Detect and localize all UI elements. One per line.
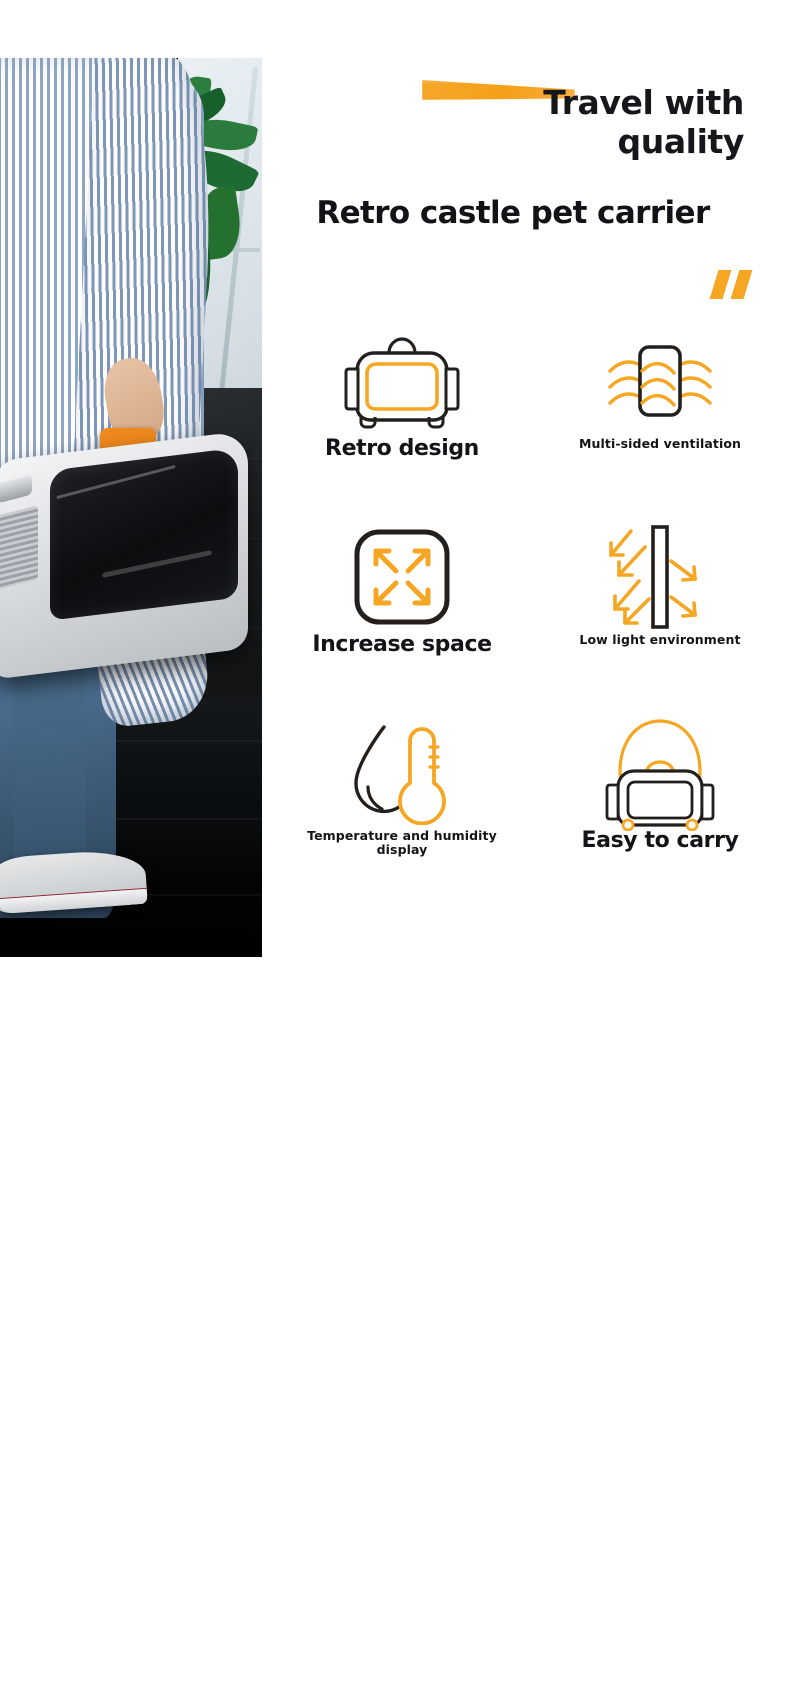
feature-label: Retro design [282,437,522,462]
photo-carrier-body [0,430,248,679]
feature-retro-design: Retro design [282,325,522,462]
feature-label: Temperature and humidity display [282,829,522,857]
light-panel-icon [540,521,780,633]
feature-row: Temperature and humidity display [262,717,790,913]
photo-carrier-vent [0,505,38,589]
feature-increase-space: Increase space [282,521,522,658]
quote-mark-icon [712,270,758,300]
feature-easy-to-carry: Easy to carry [540,717,780,1702]
feature-label: Increase space [282,633,522,658]
content-panel: Travel with quality Retro castle pet car… [262,0,790,985]
ventilation-airflow-icon [540,325,780,437]
feature-grid: Retro design [262,325,790,913]
droplet-thermometer-icon [282,717,522,829]
feature-row: Increase space [262,521,790,717]
kicker-line-2: quality [314,123,744,162]
feature-label: Low light environment [540,633,780,647]
feature-temperature-humidity-display: Temperature and humidity display [282,717,522,857]
feature-row: Retro design [262,325,790,521]
retro-carrier-icon [282,325,522,437]
page-title: Retro castle pet carrier [272,195,754,231]
feature-label: Easy to carry [540,829,780,854]
photo-carrier-clip [0,474,32,503]
product-feature-page: Travel with quality Retro castle pet car… [0,0,790,985]
product-lifestyle-photo [0,58,262,957]
expand-arrows-icon [282,521,522,633]
feature-label: Multi-sided ventilation [540,437,780,451]
photo-sneaker [0,848,148,914]
headline-kicker: Travel with quality [314,84,744,162]
photo-pet-carrier [0,428,260,688]
kicker-line-1: Travel with [314,84,744,123]
carrier-handle-icon [540,717,780,829]
